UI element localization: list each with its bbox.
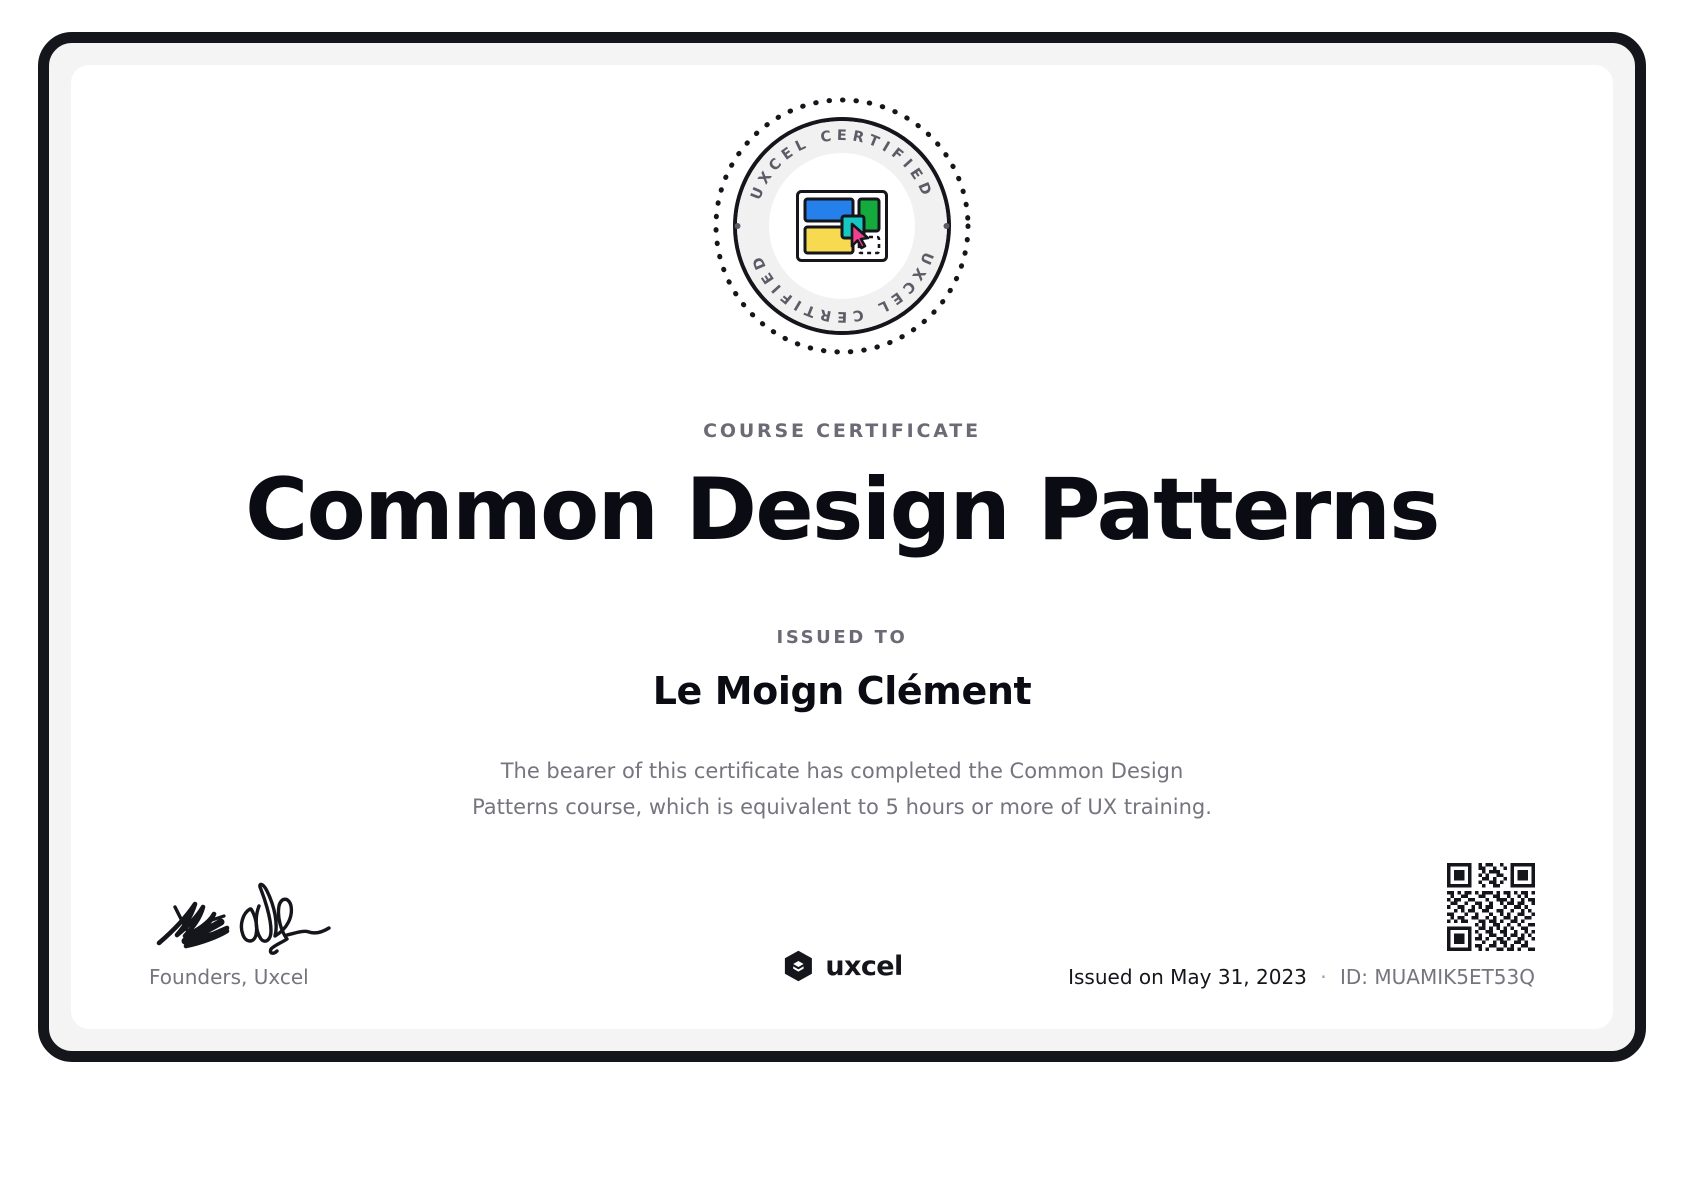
issued-on-date: Issued on May 31, 2023 [1068,965,1307,989]
uxcel-cube-icon [781,949,815,983]
certificate-meta-line: Issued on May 31, 2023 · ID: MUAMIK5ET53… [1068,965,1535,989]
certificate-id: ID: MUAMIK5ET53Q [1340,965,1535,989]
meta-separator: · [1313,965,1333,989]
certificate-frame: UXCEL CERTIFIED UXCEL CERTIFIED [38,32,1646,1062]
issued-to-label: ISSUED TO [71,627,1613,648]
certificate-meta-block: Issued on May 31, 2023 · ID: MUAMIK5ET53… [1068,863,1535,989]
founders-signature-icon [151,873,436,959]
certificate-body: UXCEL CERTIFIED UXCEL CERTIFIED [71,65,1613,1029]
brand-name: uxcel [825,951,902,982]
page-title: Common Design Patterns [71,465,1613,555]
uxcel-certified-seal: UXCEL CERTIFIED UXCEL CERTIFIED [709,93,975,359]
eyebrow-label: COURSE CERTIFICATE [71,420,1613,442]
design-patterns-layout-icon [796,190,888,262]
signature-caption: Founders, Uxcel [149,965,479,989]
recipient-name: Le Moign Clément [71,669,1613,713]
qr-code-icon[interactable] [1447,863,1535,951]
description-line-2: course, which is equivalent to 5 hours o… [565,795,1212,819]
uxcel-brand-logo: uxcel [781,949,902,983]
certificate-description: The bearer of this certificate has compl… [462,753,1222,825]
signature-block: Founders, Uxcel [149,873,479,989]
